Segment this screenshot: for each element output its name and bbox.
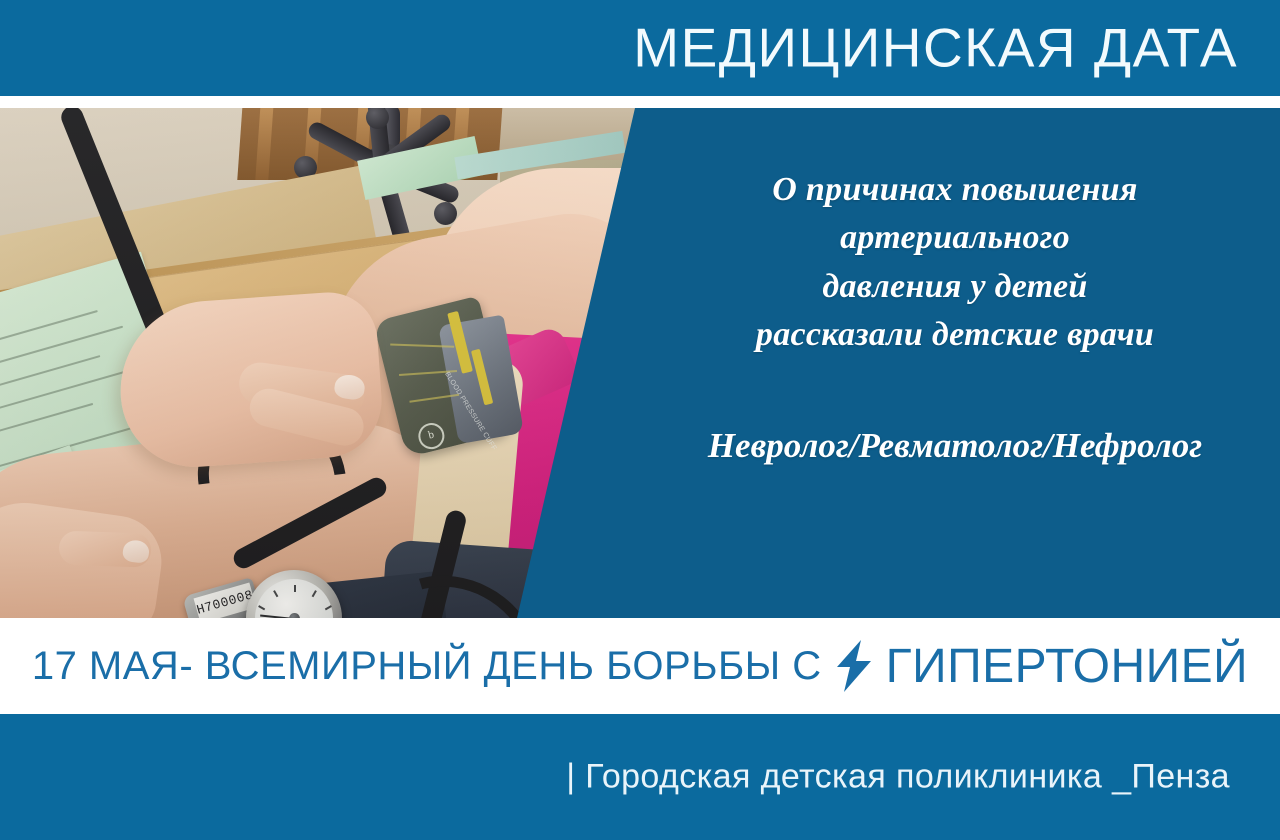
panel-headline: О причинах повышения артериального давле… xyxy=(630,166,1280,359)
main-content-area: b BLOOD PRESSURE CUFF xyxy=(0,108,1280,618)
organization-name: | Городская детская поликлиника _Пенза xyxy=(566,758,1230,797)
slogan-band: 17 МАЯ- ВСЕМИРНЫЙ ДЕНЬ БОРЬБЫ С ГИПЕРТОН… xyxy=(0,618,1280,714)
lightning-bolt-icon xyxy=(834,640,874,692)
footer-bar: | Городская детская поликлиника _Пенза xyxy=(0,714,1280,840)
page-title: МЕДИЦИНСКАЯ ДАТА xyxy=(633,21,1238,76)
panel-text-block: О причинах повышения артериального давле… xyxy=(630,108,1280,618)
specialists-line: Невролог/Ревматолог/Нефролог xyxy=(630,426,1280,466)
slogan-prefix: 17 МАЯ- ВСЕМИРНЫЙ ДЕНЬ БОРЬБЫ С xyxy=(32,644,822,689)
headline-line-3: давления у детей xyxy=(630,263,1280,311)
header-bar: МЕДИЦИНСКАЯ ДАТА xyxy=(0,0,1280,96)
headline-line-2: артериального xyxy=(630,214,1280,262)
headline-line-1: О причинах повышения xyxy=(630,166,1280,214)
photo-manometer-gauge xyxy=(246,570,342,618)
headline-line-4: рассказали детские врачи xyxy=(630,311,1280,359)
poster-root: МЕДИЦИНСКАЯ ДАТА xyxy=(0,0,1280,840)
slogan-main-word: ГИПЕРТОНИЕЙ xyxy=(886,639,1249,694)
